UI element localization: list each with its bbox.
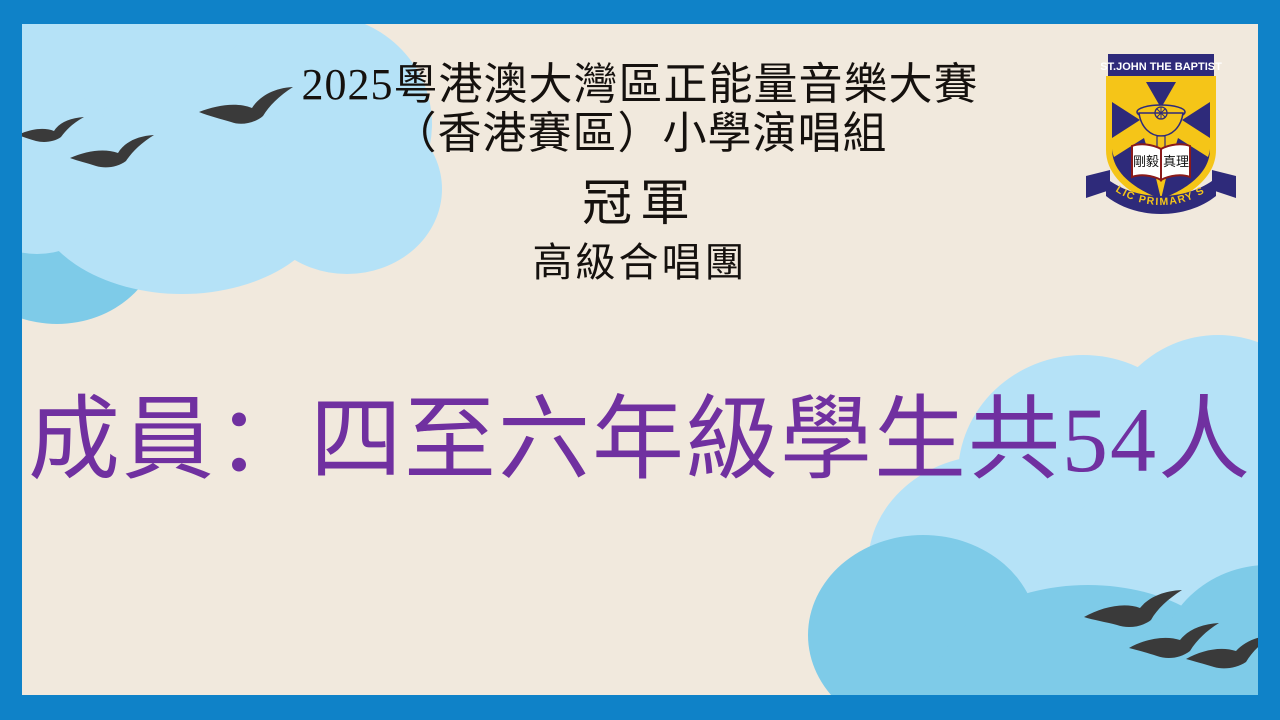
members-headline: 成員：四至六年級學生共54人 <box>22 394 1258 486</box>
crest-book-left-text: 剛毅 <box>1133 154 1159 169</box>
title-block: 2025粵港澳大灣區正能量音樂大賽 （香港賽區）小學演唱組 冠軍 高級合唱團 <box>22 60 1258 285</box>
slide-content-panel: 2025粵港澳大灣區正能量音樂大賽 （香港賽區）小學演唱組 冠軍 高級合唱團 成… <box>22 24 1258 695</box>
crest-top-banner-text: ST.JOHN THE BAPTIST <box>1100 61 1222 73</box>
school-crest-logo: ST.JOHN THE BAPTIST 剛毅 真理 <box>1086 50 1236 225</box>
crest-book-right-text: 真理 <box>1163 154 1189 169</box>
award-title: 冠軍 <box>22 175 1258 231</box>
bird-silhouette-icon <box>1184 634 1258 672</box>
slide-root: 2025粵港澳大灣區正能量音樂大賽 （香港賽區）小學演唱組 冠軍 高級合唱團 成… <box>0 0 1280 720</box>
title-line-1: 2025粵港澳大灣區正能量音樂大賽 <box>22 60 1258 109</box>
group-name: 高級合唱團 <box>22 241 1258 286</box>
title-line-2: （香港賽區）小學演唱組 <box>22 109 1258 158</box>
